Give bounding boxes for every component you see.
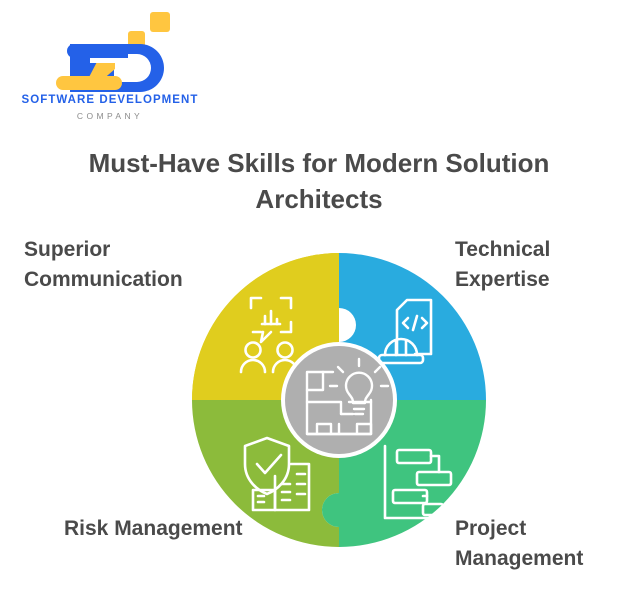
puzzle-wheel-diagram	[189, 250, 489, 550]
logo-accent-square-large	[150, 12, 170, 32]
logo-s-top	[67, 44, 128, 58]
logo-subword: COMPANY	[14, 111, 206, 121]
logo-s-gap	[90, 58, 116, 63]
page-title: Must-Have Skills for Modern Solution Arc…	[60, 145, 578, 217]
center-hub-disc[interactable]	[285, 346, 393, 454]
logo-wordmark: SOFTWARE DEVELOPMENT	[14, 94, 206, 106]
company-logo: SOFTWARE DEVELOPMENT COMPANY	[14, 8, 214, 128]
sd-monogram-icon	[30, 10, 200, 101]
